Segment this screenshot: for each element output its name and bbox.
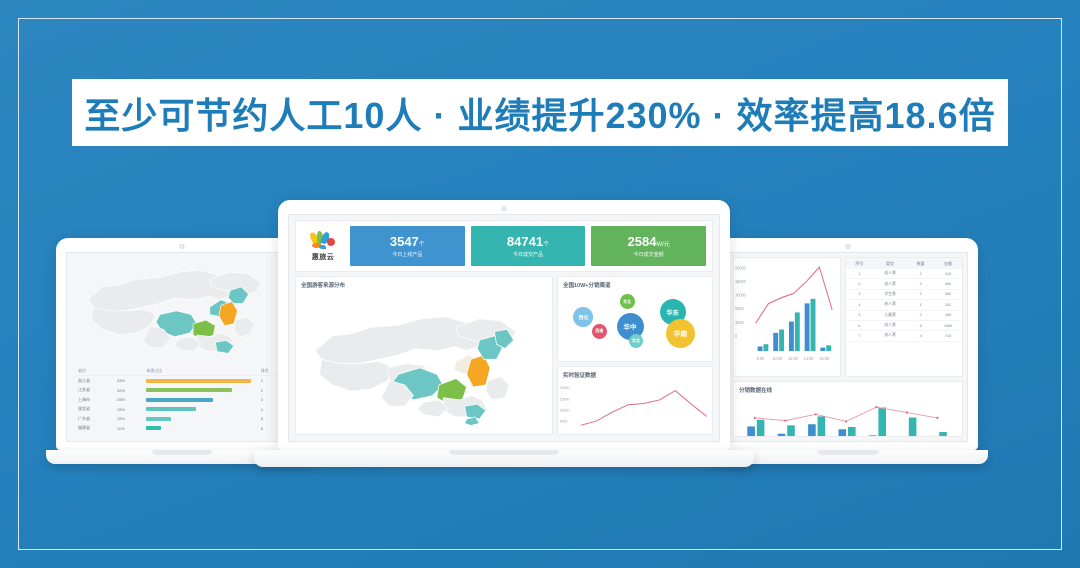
svg-text:8:00: 8:00 (757, 356, 765, 361)
brand-name: 惠旅云 (312, 252, 335, 262)
province-bar (144, 376, 258, 386)
laptop-right-lid: 200001500010000500010000 8:0010:0012:001… (718, 238, 978, 450)
col-1: 类型 (873, 258, 907, 269)
table-row: 6成人票61080 (846, 320, 962, 330)
china-map (296, 291, 552, 434)
cell-type: 成人票 (873, 320, 907, 330)
chart-line (581, 391, 707, 426)
col-pct (115, 367, 144, 376)
laptop-left: 省份 来源占比 排名 浙江省33%1江苏省32%2上海市25%3湖北省19%4广… (56, 238, 308, 464)
province-name: 广东省 (76, 414, 115, 423)
cell-no: 3 (846, 289, 873, 299)
kpi-unit-0: 个 (419, 242, 425, 248)
table-row: 5儿童票2166 (846, 310, 962, 320)
cell-type: 学生票 (873, 289, 907, 299)
col-0: 序号 (846, 258, 873, 269)
province-ranking-table: 省份 来源占比 排名 浙江省33%1江苏省32%2上海市25%3湖北省19%4广… (76, 367, 288, 433)
province-pct: 33% (115, 376, 144, 386)
bubble-3[interactable]: 西北 (573, 307, 593, 327)
map-provinces (88, 270, 262, 353)
table-row: 湖北省19%4 (76, 404, 288, 413)
camera-icon (846, 244, 851, 249)
cell-amount: 410 (934, 269, 962, 279)
cell-qty: 4 (907, 331, 934, 341)
svg-text:16:00: 16:00 (819, 356, 829, 361)
province-bar (144, 395, 258, 404)
cell-qty: 6 (907, 320, 934, 330)
table-row: 1成人票2410 (846, 269, 962, 279)
bubble-6[interactable]: 华北 (629, 334, 643, 348)
cell-qty: 2 (907, 269, 934, 279)
center-line-card: 实时验证数据 2000015000100005000 (557, 366, 713, 435)
laptop-center-screen: 惠旅云 3547个 今日上线产品 84741个 今日成交产品 2584W/元 今… (288, 214, 720, 442)
laptop-center: 惠旅云 3547个 今日上线产品 84741个 今日成交产品 2584W/元 今… (278, 200, 730, 467)
province-name: 上海市 (76, 395, 115, 404)
svg-text:10000: 10000 (735, 292, 746, 297)
bubble-4[interactable]: 东北 (620, 294, 635, 309)
province-pct: 19% (115, 404, 144, 413)
center-map-card: 全国游客来源分布 (295, 276, 553, 435)
svg-text:15000: 15000 (735, 279, 746, 284)
trackpad-notch (817, 450, 879, 455)
cell-type: 成人票 (873, 269, 907, 279)
col-province: 省份 (76, 367, 115, 376)
chart-bars (747, 408, 947, 437)
map-card-title: 全国游客来源分布 (296, 277, 552, 291)
cell-type: 成人票 (873, 331, 907, 341)
table-header-row: 序号类型数量金额 (846, 258, 962, 269)
camera-icon (180, 244, 185, 249)
cell-type: 成人票 (873, 279, 907, 289)
col-3: 金额 (934, 258, 962, 269)
laptop-right: 200001500010000500010000 8:0010:0012:001… (718, 238, 978, 464)
bubble-chart: 华东华中华南西北东北西南华北 (558, 289, 712, 361)
cell-amount: 166 (934, 310, 962, 320)
svg-text:1000: 1000 (735, 320, 744, 325)
province-name: 湖北省 (76, 404, 115, 413)
table-row: 江苏省32%2 (76, 386, 288, 395)
kpi-label-1: 今日成交产品 (513, 251, 543, 258)
x-axis-ticks: 8:0010:0012:0014:0016:00 (757, 356, 830, 361)
province-name: 江苏省 (76, 386, 115, 395)
cell-amount: 102 (934, 300, 962, 310)
cell-no: 7 (846, 331, 873, 341)
transaction-table: 序号类型数量金额 1成人票24102成人票34803学生票23604老人票110… (846, 258, 962, 342)
svg-text:10000: 10000 (560, 409, 570, 413)
province-bar (144, 423, 258, 433)
col-2: 数量 (907, 258, 934, 269)
svg-text:5000: 5000 (560, 420, 568, 424)
table-row: 4老人票1102 (846, 300, 962, 310)
kpi-card-0: 3547个 今日上线产品 (350, 226, 465, 266)
laptop-left-lid: 省份 来源占比 排名 浙江省33%1江苏省32%2上海市25%3湖北省19%4广… (56, 238, 308, 450)
headline-banner: 至少可节约人工10人 · 业绩提升230% · 效率提高18.6倍 (72, 79, 1008, 146)
svg-text:15000: 15000 (560, 397, 570, 401)
dashboard-header: 惠旅云 3547个 今日上线产品 84741个 今日成交产品 2584W/元 今… (295, 220, 713, 272)
province-name: 福建省 (76, 423, 115, 433)
center-bubble-card: 全国10W+分销渠道 华东华中华南西北东北西南华北 (557, 276, 713, 362)
cell-no: 1 (846, 269, 873, 279)
table-row: 浙江省33%1 (76, 376, 288, 386)
cell-qty: 1 (907, 300, 934, 310)
svg-text:14:00: 14:00 (804, 356, 814, 361)
brand-logo: 惠旅云 (302, 231, 344, 262)
kpi-unit-2: W/元 (656, 242, 669, 248)
cell-amount: 1080 (934, 320, 962, 330)
table-row: 福建省11%6 (76, 423, 288, 433)
bubble-5[interactable]: 西南 (592, 324, 607, 339)
combo-chart: 200001500010000500010000 8:0010:0012:001… (734, 258, 840, 376)
kpi-card-2: 2584W/元 今日成交金额 (591, 226, 706, 266)
transaction-rows: 1成人票24102成人票34803学生票23604老人票11025儿童票2166… (846, 269, 962, 341)
y-axis-ticks: 200001500010000500010000 (735, 265, 746, 338)
left-province-table: 省份 来源占比 排名 浙江省33%1江苏省32%2上海市25%3湖北省19%4广… (71, 363, 293, 437)
province-bar (144, 414, 258, 423)
kpi-value-0: 3547 (390, 234, 419, 249)
province-pct: 15% (115, 414, 144, 423)
cell-qty: 2 (907, 289, 934, 299)
right-data-table-card: 序号类型数量金额 1成人票24102成人票34803学生票23604老人票110… (845, 257, 963, 377)
promotional-poster: 至少可节约人工10人 · 业绩提升230% · 效率提高18.6倍 (0, 0, 1080, 568)
laptop-center-lid: 惠旅云 3547个 今日上线产品 84741个 今日成交产品 2584W/元 今… (278, 200, 730, 450)
kpi-value-1: 84741 (507, 234, 543, 249)
right-distribution-card: 分销数据在线 新增分销商成交分销商分销金额/元 (733, 381, 963, 437)
kpi-label-0: 今日上线产品 (392, 251, 422, 258)
distribution-chart (734, 396, 962, 437)
table-header-row: 省份 来源占比 排名 (76, 367, 288, 376)
y-axis-ticks: 2000015000100005000 (560, 386, 570, 424)
cell-no: 4 (846, 300, 873, 310)
province-bar (144, 386, 258, 395)
chart-bars (758, 299, 832, 351)
table-row: 2成人票3480 (846, 279, 962, 289)
combo-chart-legend: 入园人数验证票数销售金额/元 (734, 376, 840, 377)
svg-text:20000: 20000 (735, 265, 746, 270)
camera-icon (502, 206, 507, 211)
svg-text:12:00: 12:00 (788, 356, 798, 361)
province-pct: 11% (115, 423, 144, 433)
line-card-title: 实时验证数据 (558, 367, 712, 381)
laptop-left-screen: 省份 来源占比 排名 浙江省33%1江苏省32%2上海市25%3湖北省19%4广… (66, 252, 298, 442)
laptop-center-base (254, 450, 754, 467)
svg-text:0: 0 (735, 333, 738, 338)
cell-no: 6 (846, 320, 873, 330)
logo-mark-icon (308, 231, 338, 251)
province-pct: 25% (115, 395, 144, 404)
chart-line (756, 267, 833, 323)
province-rows: 浙江省33%1江苏省32%2上海市25%3湖北省19%4广东省15%5福建省11… (76, 376, 288, 434)
kpi-unit-1: 个 (543, 242, 549, 248)
cell-qty: 2 (907, 310, 934, 320)
province-pct: 32% (115, 386, 144, 395)
kpi-card-1: 84741个 今日成交产品 (471, 226, 586, 266)
cell-qty: 3 (907, 279, 934, 289)
laptop-right-screen: 200001500010000500010000 8:0010:0012:001… (728, 252, 968, 442)
cell-type: 老人票 (873, 300, 907, 310)
kpi-label-2: 今日成交金额 (634, 251, 664, 258)
cell-no: 5 (846, 310, 873, 320)
trackpad-notch (449, 450, 559, 455)
left-china-map (71, 257, 293, 361)
cell-amount: 480 (934, 279, 962, 289)
cell-no: 2 (846, 279, 873, 289)
col-share: 来源占比 (144, 367, 258, 376)
cell-amount: 710 (934, 331, 962, 341)
table-row: 广东省15%5 (76, 414, 288, 423)
province-name: 浙江省 (76, 376, 115, 386)
table-row: 3学生票2360 (846, 289, 962, 299)
cell-type: 儿童票 (873, 310, 907, 320)
table-row: 上海市25%3 (76, 395, 288, 404)
map-provinces (315, 317, 516, 426)
cell-amount: 360 (934, 289, 962, 299)
svg-text:10:00: 10:00 (772, 356, 782, 361)
province-bar (144, 404, 258, 413)
right-combo-chart-card: 200001500010000500010000 8:0010:0012:001… (733, 257, 841, 377)
dist-card-title: 分销数据在线 (734, 382, 962, 396)
trackpad-notch (152, 450, 212, 455)
table-row: 7成人票4710 (846, 331, 962, 341)
kpi-value-2: 2584 (628, 234, 657, 249)
headline-text: 至少可节约人工10人 · 业绩提升230% · 效率提高18.6倍 (84, 87, 995, 139)
realtime-line-chart: 2000015000100005000 (558, 381, 712, 434)
svg-text:20000: 20000 (560, 386, 570, 390)
svg-text:5000: 5000 (735, 306, 744, 311)
bubble-2[interactable]: 华南 (666, 319, 695, 348)
